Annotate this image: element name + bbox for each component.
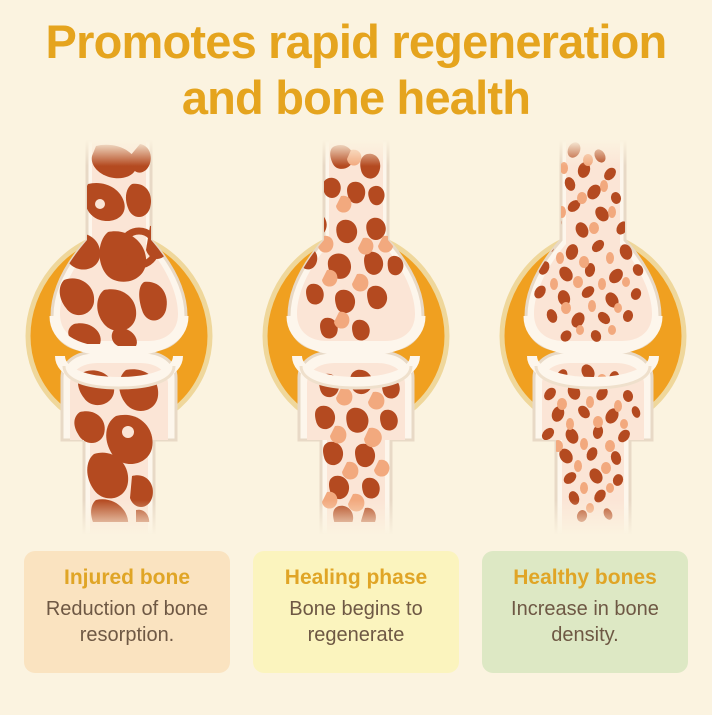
page-title-line-2: and bone health — [0, 70, 712, 126]
caption-card-title: Healthy bones — [513, 565, 657, 591]
caption-card-description: Bone begins to regenerate — [261, 596, 451, 648]
caption-card-description: Reduction of bone resorption. — [32, 596, 222, 648]
caption-card-row: Injured bone Reduction of bone resorptio… — [24, 551, 688, 673]
caption-card-title: Healing phase — [285, 565, 427, 591]
caption-card-title: Injured bone — [64, 565, 190, 591]
infographic-root: Promotes rapid regeneration and bone hea… — [0, 0, 712, 715]
caption-card-healing: Healing phase Bone begins to regenerate — [253, 551, 459, 673]
caption-card-injured: Injured bone Reduction of bone resorptio… — [24, 551, 230, 673]
injured-bone-illustration — [4, 140, 234, 535]
healthy-bone-illustration — [478, 140, 708, 535]
bone-illustration-row — [0, 140, 712, 540]
healing-bone-illustration — [241, 140, 471, 535]
caption-card-description: Increase in bone density. — [490, 596, 680, 648]
caption-card-healthy: Healthy bones Increase in bone density. — [482, 551, 688, 673]
page-title: Promotes rapid regeneration and bone hea… — [0, 14, 712, 126]
page-title-line-1: Promotes rapid regeneration — [0, 14, 712, 70]
